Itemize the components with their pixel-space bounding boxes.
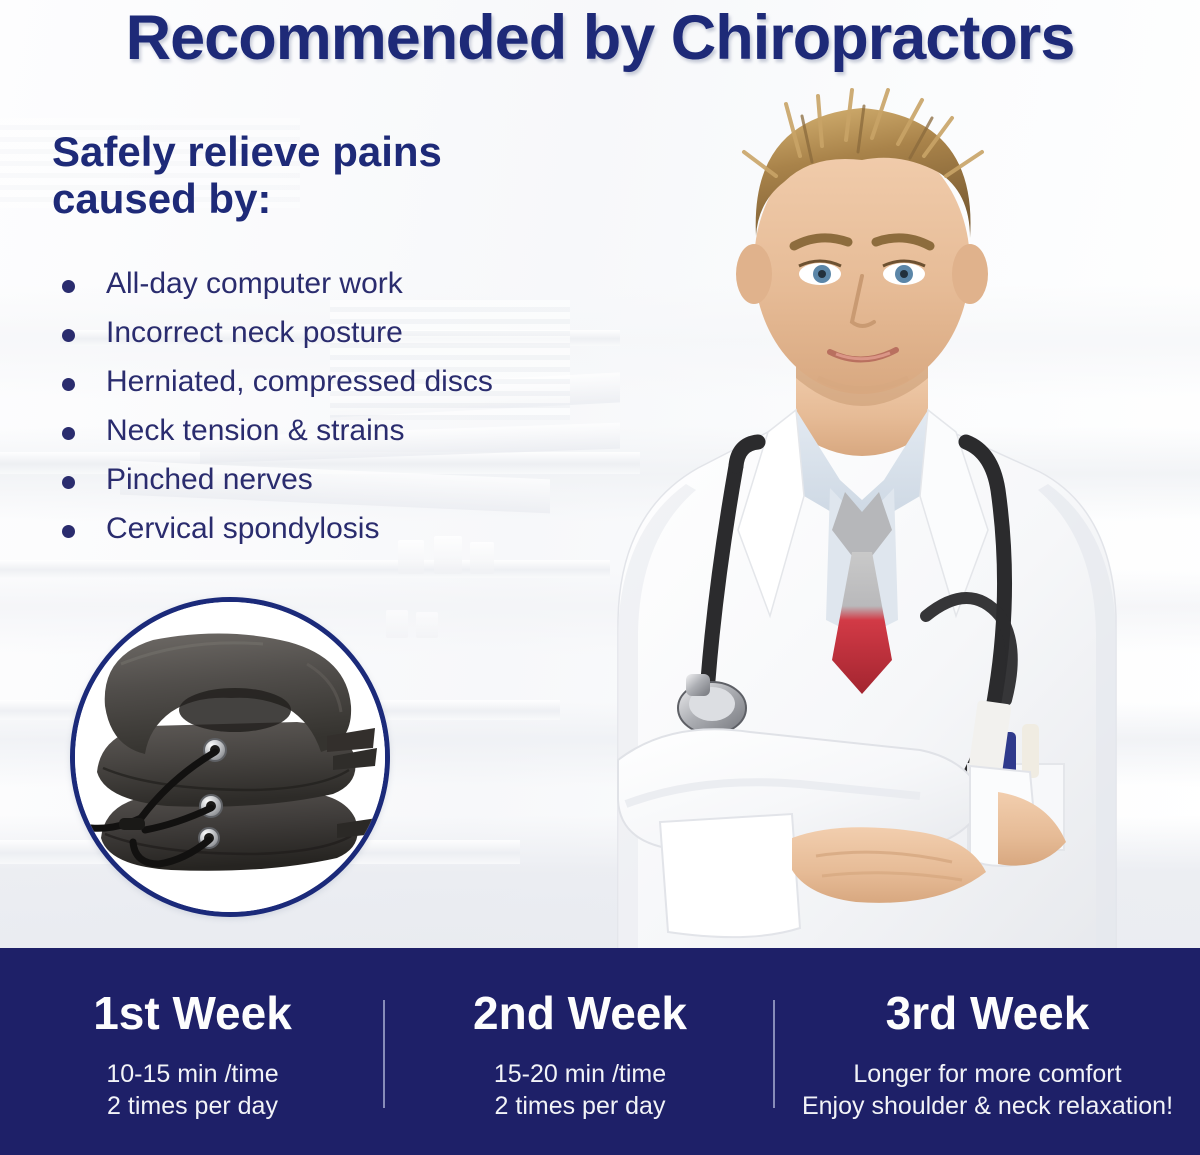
- list-item-label: Incorrect neck posture: [106, 317, 403, 349]
- bullet-icon: [62, 329, 75, 342]
- schedule-detail-line-1: 10-15 min /time: [106, 1058, 278, 1090]
- product-infographic: Recommended by Chiropractors Safely reli…: [0, 0, 1200, 1155]
- list-item-label: Neck tension & strains: [106, 415, 404, 447]
- list-item: All-day computer work: [55, 268, 615, 317]
- bullet-icon: [62, 280, 75, 293]
- schedule-detail: Longer for more comfort Enjoy shoulder &…: [802, 1058, 1173, 1122]
- tube-connector: [119, 818, 145, 830]
- subheading-line-1: Safely relieve pains: [52, 128, 442, 175]
- schedule-title: 2nd Week: [473, 990, 687, 1036]
- list-item-label: Pinched nerves: [106, 464, 313, 496]
- list-item-label: Herniated, compressed discs: [106, 366, 493, 398]
- list-item: Pinched nerves: [55, 464, 615, 513]
- schedule-column-week-2: 2nd Week 15-20 min /time 2 times per day: [385, 948, 775, 1155]
- coat-cuff: [660, 814, 800, 937]
- page-title: Recommended by Chiropractors: [0, 2, 1200, 74]
- list-item: Incorrect neck posture: [55, 317, 615, 366]
- list-item: Neck tension & strains: [55, 415, 615, 464]
- bullet-icon: [62, 525, 75, 538]
- schedule-detail-line-2: Enjoy shoulder & neck relaxation!: [802, 1090, 1173, 1122]
- schedule-detail-line-2: 2 times per day: [106, 1090, 278, 1122]
- schedule-title: 1st Week: [93, 990, 292, 1036]
- subheading-line-2: caused by:: [52, 175, 572, 222]
- schedule-column-week-1: 1st Week 10-15 min /time 2 times per day: [0, 948, 385, 1155]
- list-item-label: Cervical spondylosis: [106, 513, 379, 545]
- causes-list: All-day computer work Incorrect neck pos…: [55, 268, 615, 562]
- bullet-icon: [62, 378, 75, 391]
- subheading: Safely relieve pains caused by:: [52, 128, 572, 222]
- list-item: Cervical spondylosis: [55, 513, 615, 562]
- pen: [1022, 724, 1039, 778]
- bullet-icon: [62, 427, 75, 440]
- schedule-detail: 10-15 min /time 2 times per day: [106, 1058, 278, 1122]
- bullet-icon: [62, 476, 75, 489]
- list-item-label: All-day computer work: [106, 268, 403, 300]
- schedule-detail: 15-20 min /time 2 times per day: [494, 1058, 666, 1122]
- usage-schedule-bar: 1st Week 10-15 min /time 2 times per day…: [0, 948, 1200, 1155]
- schedule-detail-line-1: Longer for more comfort: [802, 1058, 1173, 1090]
- list-item: Herniated, compressed discs: [55, 366, 615, 415]
- schedule-detail-line-1: 15-20 min /time: [494, 1058, 666, 1090]
- schedule-title: 3rd Week: [886, 990, 1090, 1036]
- product-image-circle: [70, 597, 390, 917]
- schedule-column-week-3: 3rd Week Longer for more comfort Enjoy s…: [775, 948, 1200, 1155]
- schedule-detail-line-2: 2 times per day: [494, 1090, 666, 1122]
